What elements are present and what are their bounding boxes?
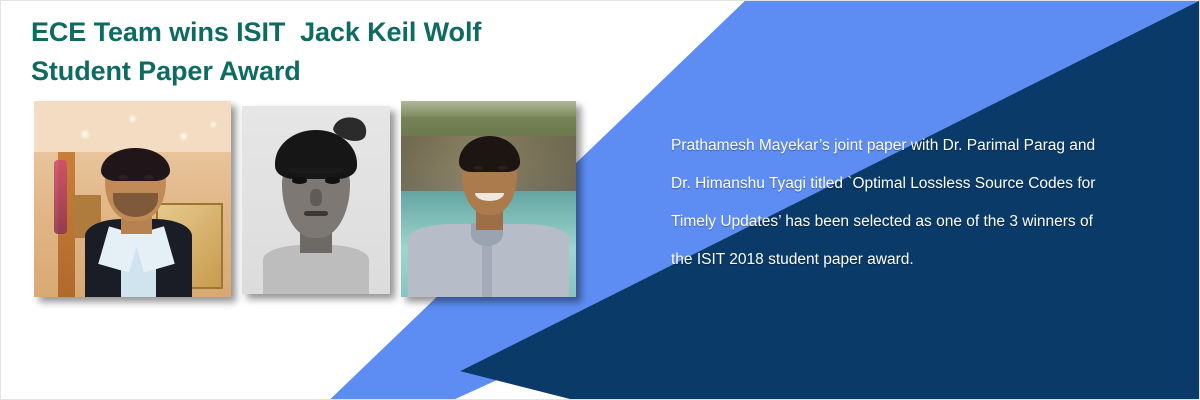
himanshu-tyagi-photo <box>401 101 576 297</box>
news-body-text: Prathamesh Mayekar’s joint paper with Dr… <box>671 127 1183 279</box>
photo-eye-right <box>325 177 340 184</box>
photo-content <box>34 101 231 297</box>
page-title: ECE Team wins ISIT Jack Keil Wolf Studen… <box>31 13 551 91</box>
photo-eyebrows <box>288 168 344 173</box>
photo-content <box>401 101 576 297</box>
news-banner: ECE Team wins ISIT Jack Keil Wolf Studen… <box>0 0 1200 400</box>
parimal-parag-photo <box>242 106 390 294</box>
photo-hill-ridge <box>401 101 576 117</box>
prathamesh-mayekar-photo <box>34 101 231 297</box>
photo-garland <box>54 160 68 234</box>
photo-eye-left <box>118 175 128 180</box>
page-title-line-1: ECE Team wins ISIT Jack Keil Wolf <box>31 13 551 52</box>
news-body-line-2: Dr. Himanshu Tyagi titled `Optimal Lossl… <box>671 165 1183 203</box>
photo-eye-left <box>292 177 307 184</box>
news-body-line-3: Timely Updates’ has been selected as one… <box>671 203 1183 241</box>
photo-nose <box>310 189 322 206</box>
news-body-line-4: the ISIT 2018 student paper award. <box>671 241 1183 279</box>
page-title-line-2: Student Paper Award <box>31 52 551 91</box>
news-body-line-1: Prathamesh Mayekar’s joint paper with Dr… <box>671 127 1183 165</box>
photo-content <box>242 106 390 294</box>
photo-mouth <box>304 211 328 216</box>
